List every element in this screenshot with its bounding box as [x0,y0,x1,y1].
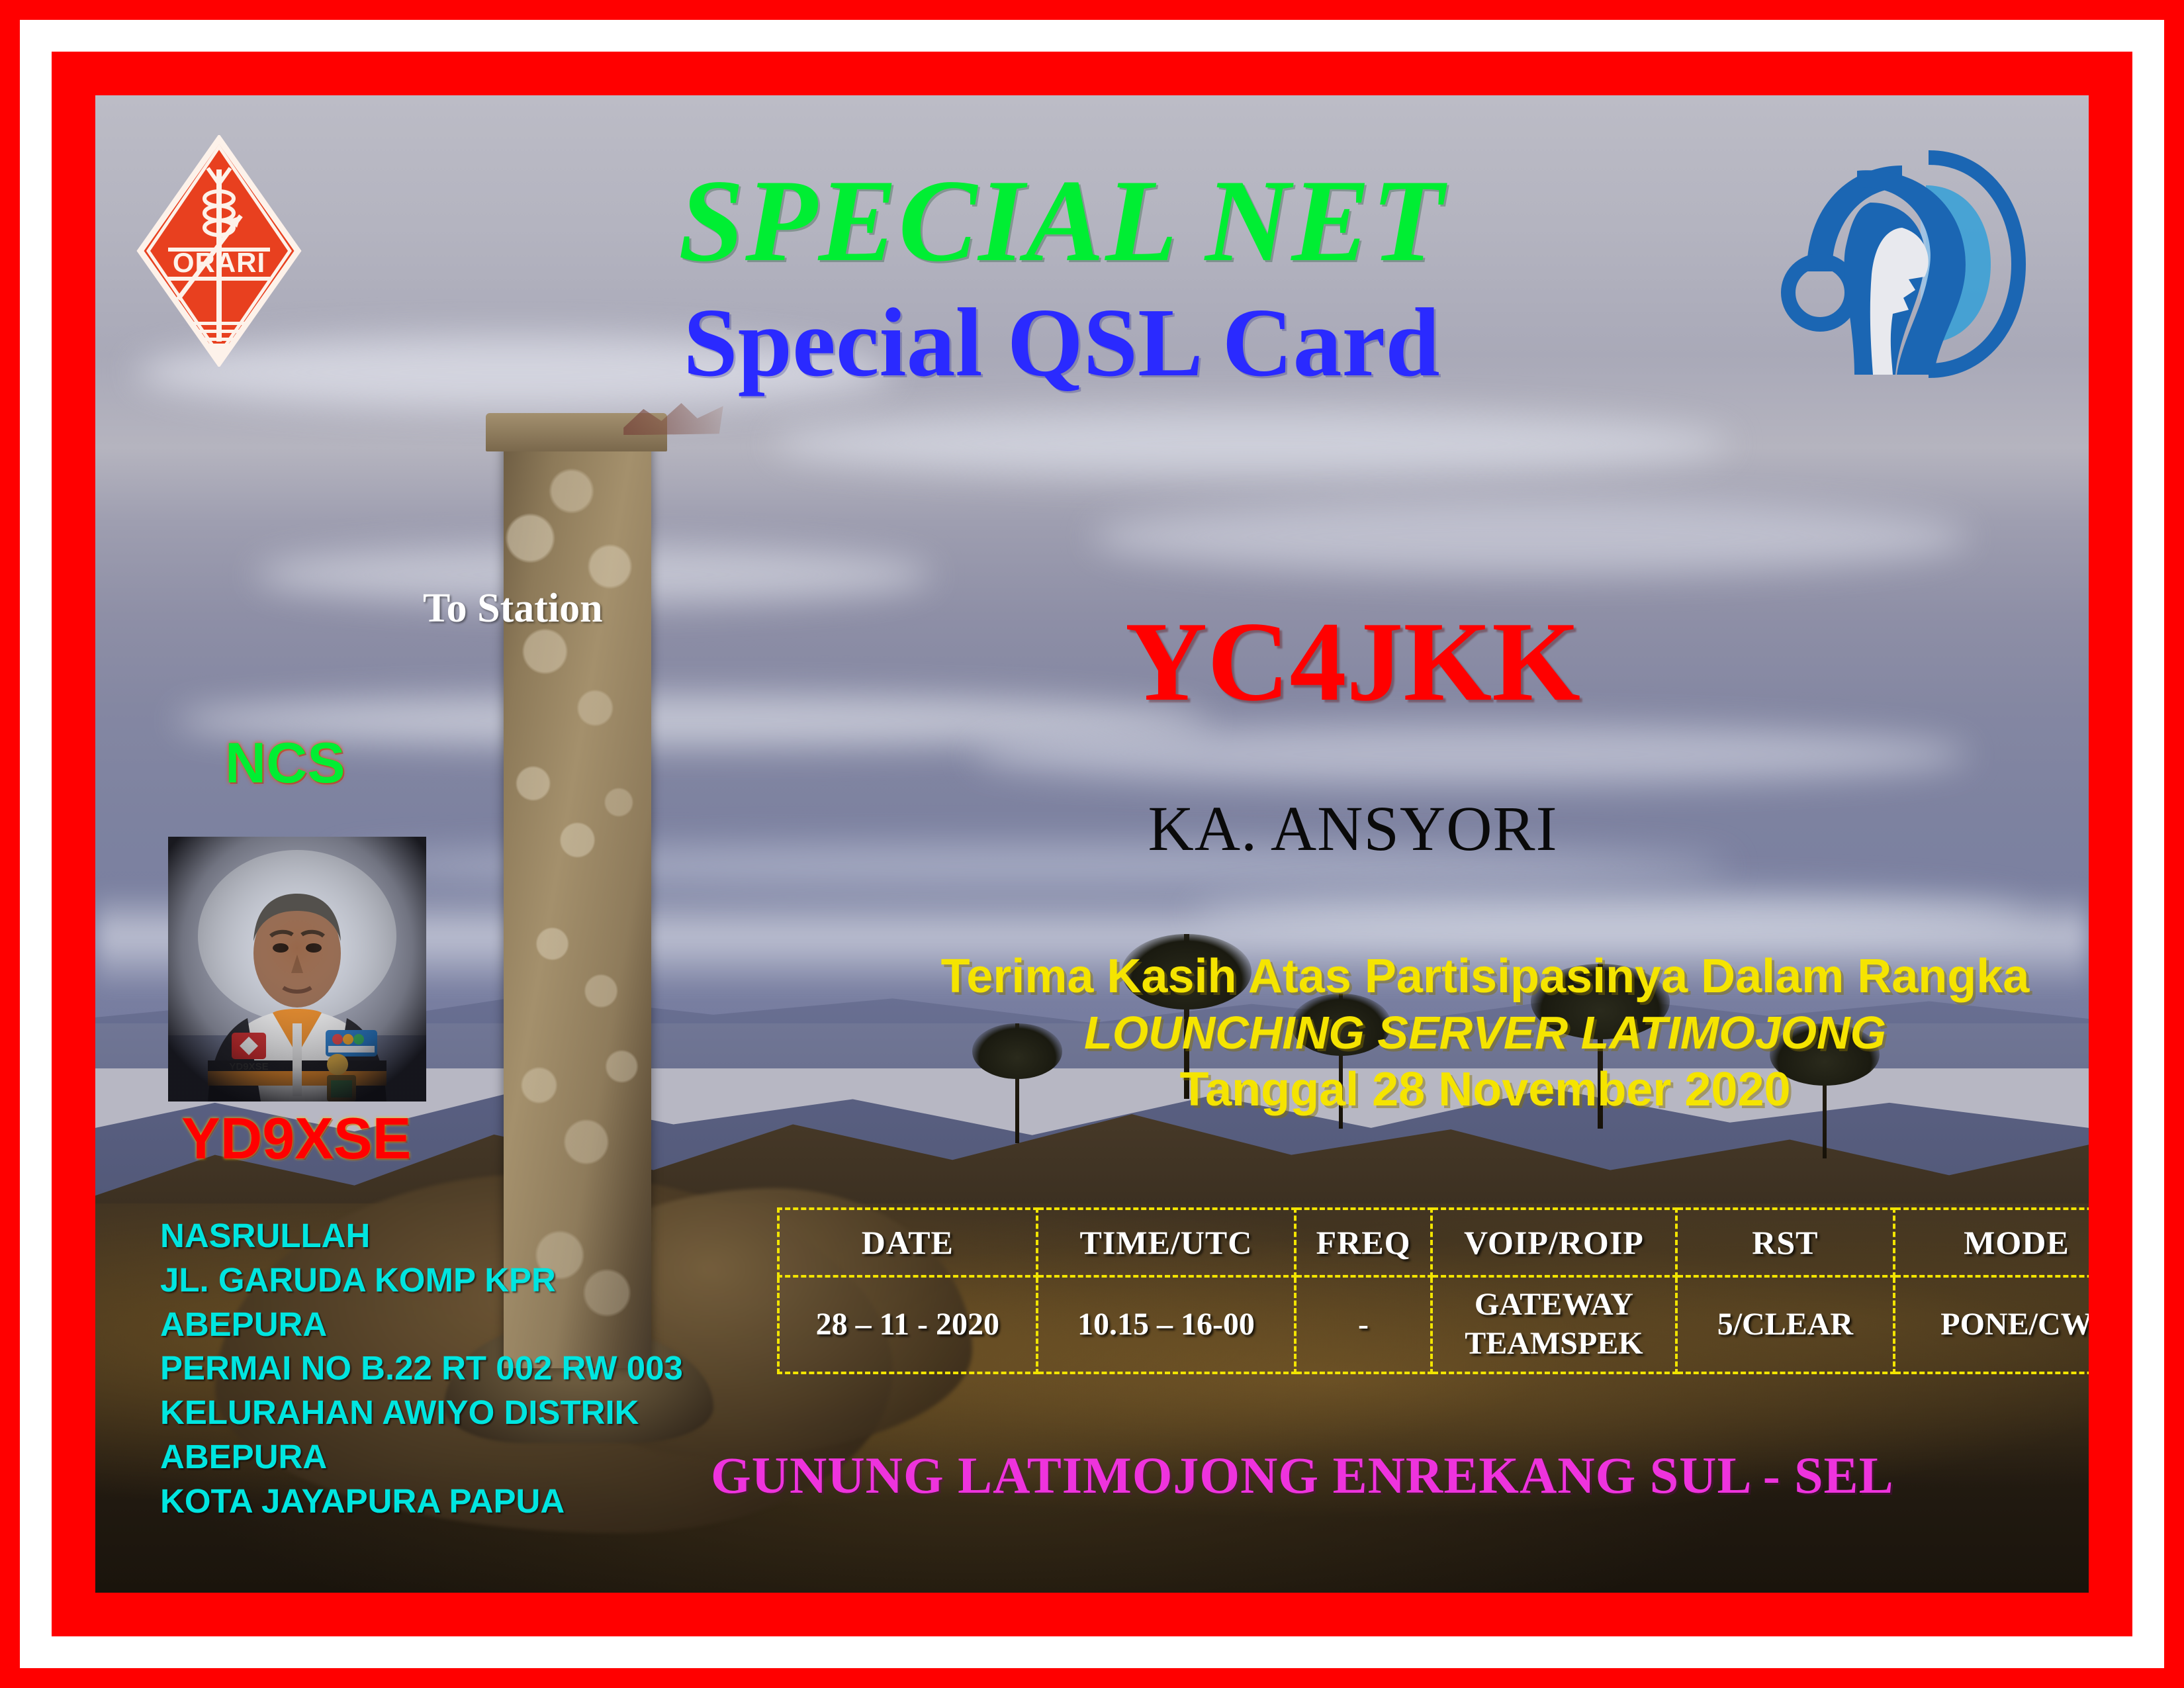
column-header-time: TIME/UTC [1037,1209,1296,1276]
column-header-date: DATE [778,1209,1037,1276]
qsl-card: ORARI [95,95,2089,1593]
column-header-freq: FREQ [1295,1209,1432,1276]
address-line: KOTA JAYAPURA PAPUA [160,1479,703,1524]
table-row: 28 – 11 - 2020 10.15 – 16-00 - GATEWAY T… [778,1276,2089,1373]
card-white-border: ORARI [20,20,2164,1668]
station-callsign: YC4JKK [989,605,1717,719]
thanks-line-1: Terima Kasih Atas Partisipasinya Dalam R… [856,949,2089,1005]
table-header-row: DATE TIME/UTC FREQ VOIP/ROIP RST MODE [778,1209,2089,1276]
ncs-callsign: YD9XSE [181,1105,411,1172]
cell-voip-roip-line1: GATEWAY [1433,1286,1674,1325]
operator-name: KA. ANSYORI [989,797,1717,861]
to-station-label: To Station [423,585,603,632]
address-line: KELURAHAN AWIYO DISTRIK [160,1391,703,1435]
address-line: NASRULLAH [160,1214,703,1258]
ncs-label: NCS [225,731,345,796]
svg-text:ORARI: ORARI [173,247,265,278]
address-line: ABEPURA [160,1435,703,1479]
address-line: ABEPURA [160,1303,703,1347]
column-header-voip-roip: VOIP/ROIP [1432,1209,1676,1276]
card-content-overlay: ORARI [95,95,2089,1593]
cell-rst: 5/CLEAR [1676,1276,1894,1373]
thanks-line-3: Tanggal 28 November 2020 [856,1060,2089,1119]
operator-portrait: YD9XSE [168,837,426,1102]
cell-voip-roip-line2: TEAMSPEK [1433,1325,1674,1364]
cell-time: 10.15 – 16-00 [1037,1276,1296,1373]
column-header-rst: RST [1676,1209,1894,1276]
station-address: NASRULLAH JL. GARUDA KOMP KPR ABEPURA PE… [160,1214,703,1524]
card-outer-border: ORARI [0,0,2184,1688]
page-title: SPECIAL NET [466,162,1657,279]
column-header-mode: MODE [1894,1209,2089,1276]
address-line: PERMAI NO B.22 RT 002 RW 003 [160,1346,703,1391]
orari-diamond-logo: ORARI [136,135,302,367]
cell-date: 28 – 11 - 2020 [778,1276,1037,1373]
headset-operator-logo [1772,142,2030,387]
page-subtitle: Special QSL Card [466,294,1657,392]
event-location: GUNUNG LATIMOJONG ENREKANG SUL - SEL [711,1446,1968,1505]
qso-details-table: DATE TIME/UTC FREQ VOIP/ROIP RST MODE 28… [777,1207,2089,1374]
thanks-message: Terima Kasih Atas Partisipasinya Dalam R… [856,949,2089,1119]
address-line: JL. GARUDA KOMP KPR [160,1258,703,1303]
thanks-line-2: LOUNCHING SERVER LATIMOJONG [856,1005,2089,1060]
cell-mode: PONE/CW [1894,1276,2089,1373]
cell-freq: - [1295,1276,1432,1373]
cell-voip-roip: GATEWAY TEAMSPEK [1432,1276,1676,1373]
card-inner-border: ORARI [52,52,2132,1636]
